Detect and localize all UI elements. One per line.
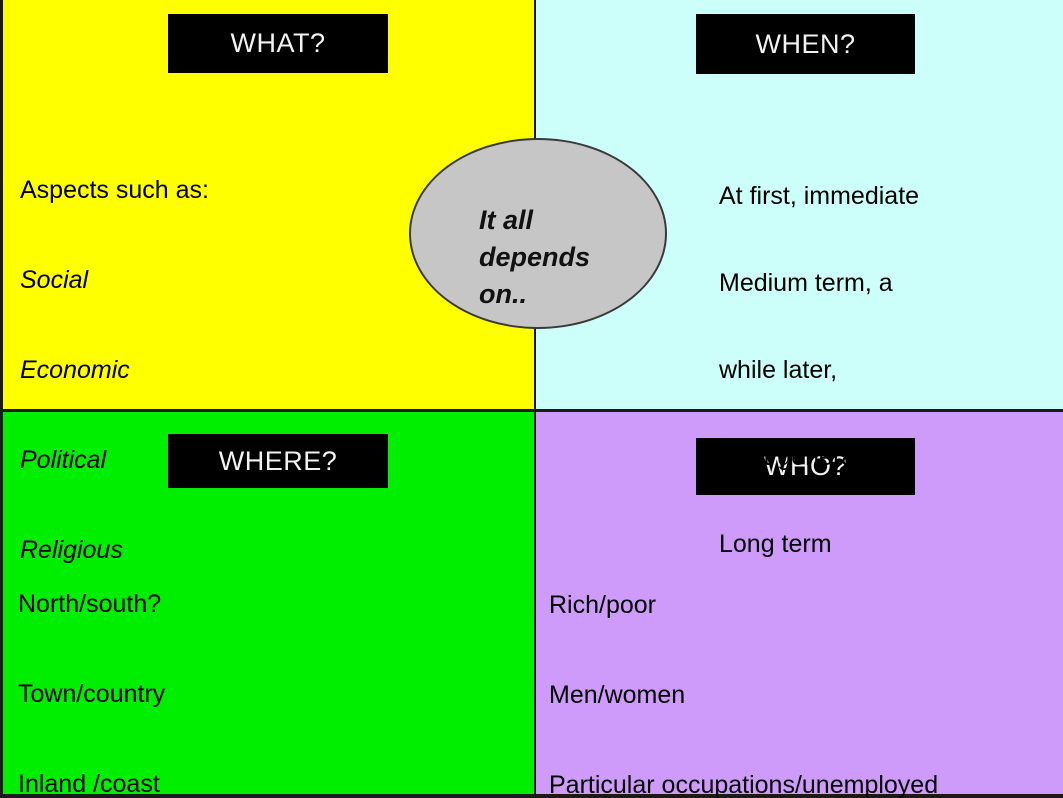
when-item-2: Medium term, a [719,269,919,298]
center-ellipse-label: It all depends on.. [479,202,639,313]
diagram-canvas: WHAT? WHEN? WHERE? WHO? Aspects such as:… [0,0,1063,798]
who-item-3: Particular occupations/unemployed [549,770,938,798]
body-text-who: Rich/poor Men/women Particular occupatio… [549,530,938,798]
when-item-4: Next generation [719,443,919,472]
center-ellipse: It all depends on.. [409,138,667,329]
what-item-social: Social [20,265,209,295]
what-item-political: Political [20,445,209,475]
heading-plate-when: WHEN? [696,14,915,74]
who-item-2: Men/women [549,680,938,710]
where-item-1: North/south? [18,589,203,619]
body-text-where: North/south? Town/country Inland /coast … [18,529,203,798]
when-item-3: while later, [719,356,919,385]
who-item-1: Rich/poor [549,590,938,620]
spellcheck-squiggle-icon [514,305,548,311]
what-item-economic: Economic [20,355,209,385]
heading-plate-what: WHAT? [168,14,388,73]
what-intro-line: Aspects such as: [20,175,209,205]
when-item-1: At first, immediate [719,182,919,211]
where-item-3: Inland /coast [18,769,203,798]
where-item-2: Town/country [18,679,203,709]
